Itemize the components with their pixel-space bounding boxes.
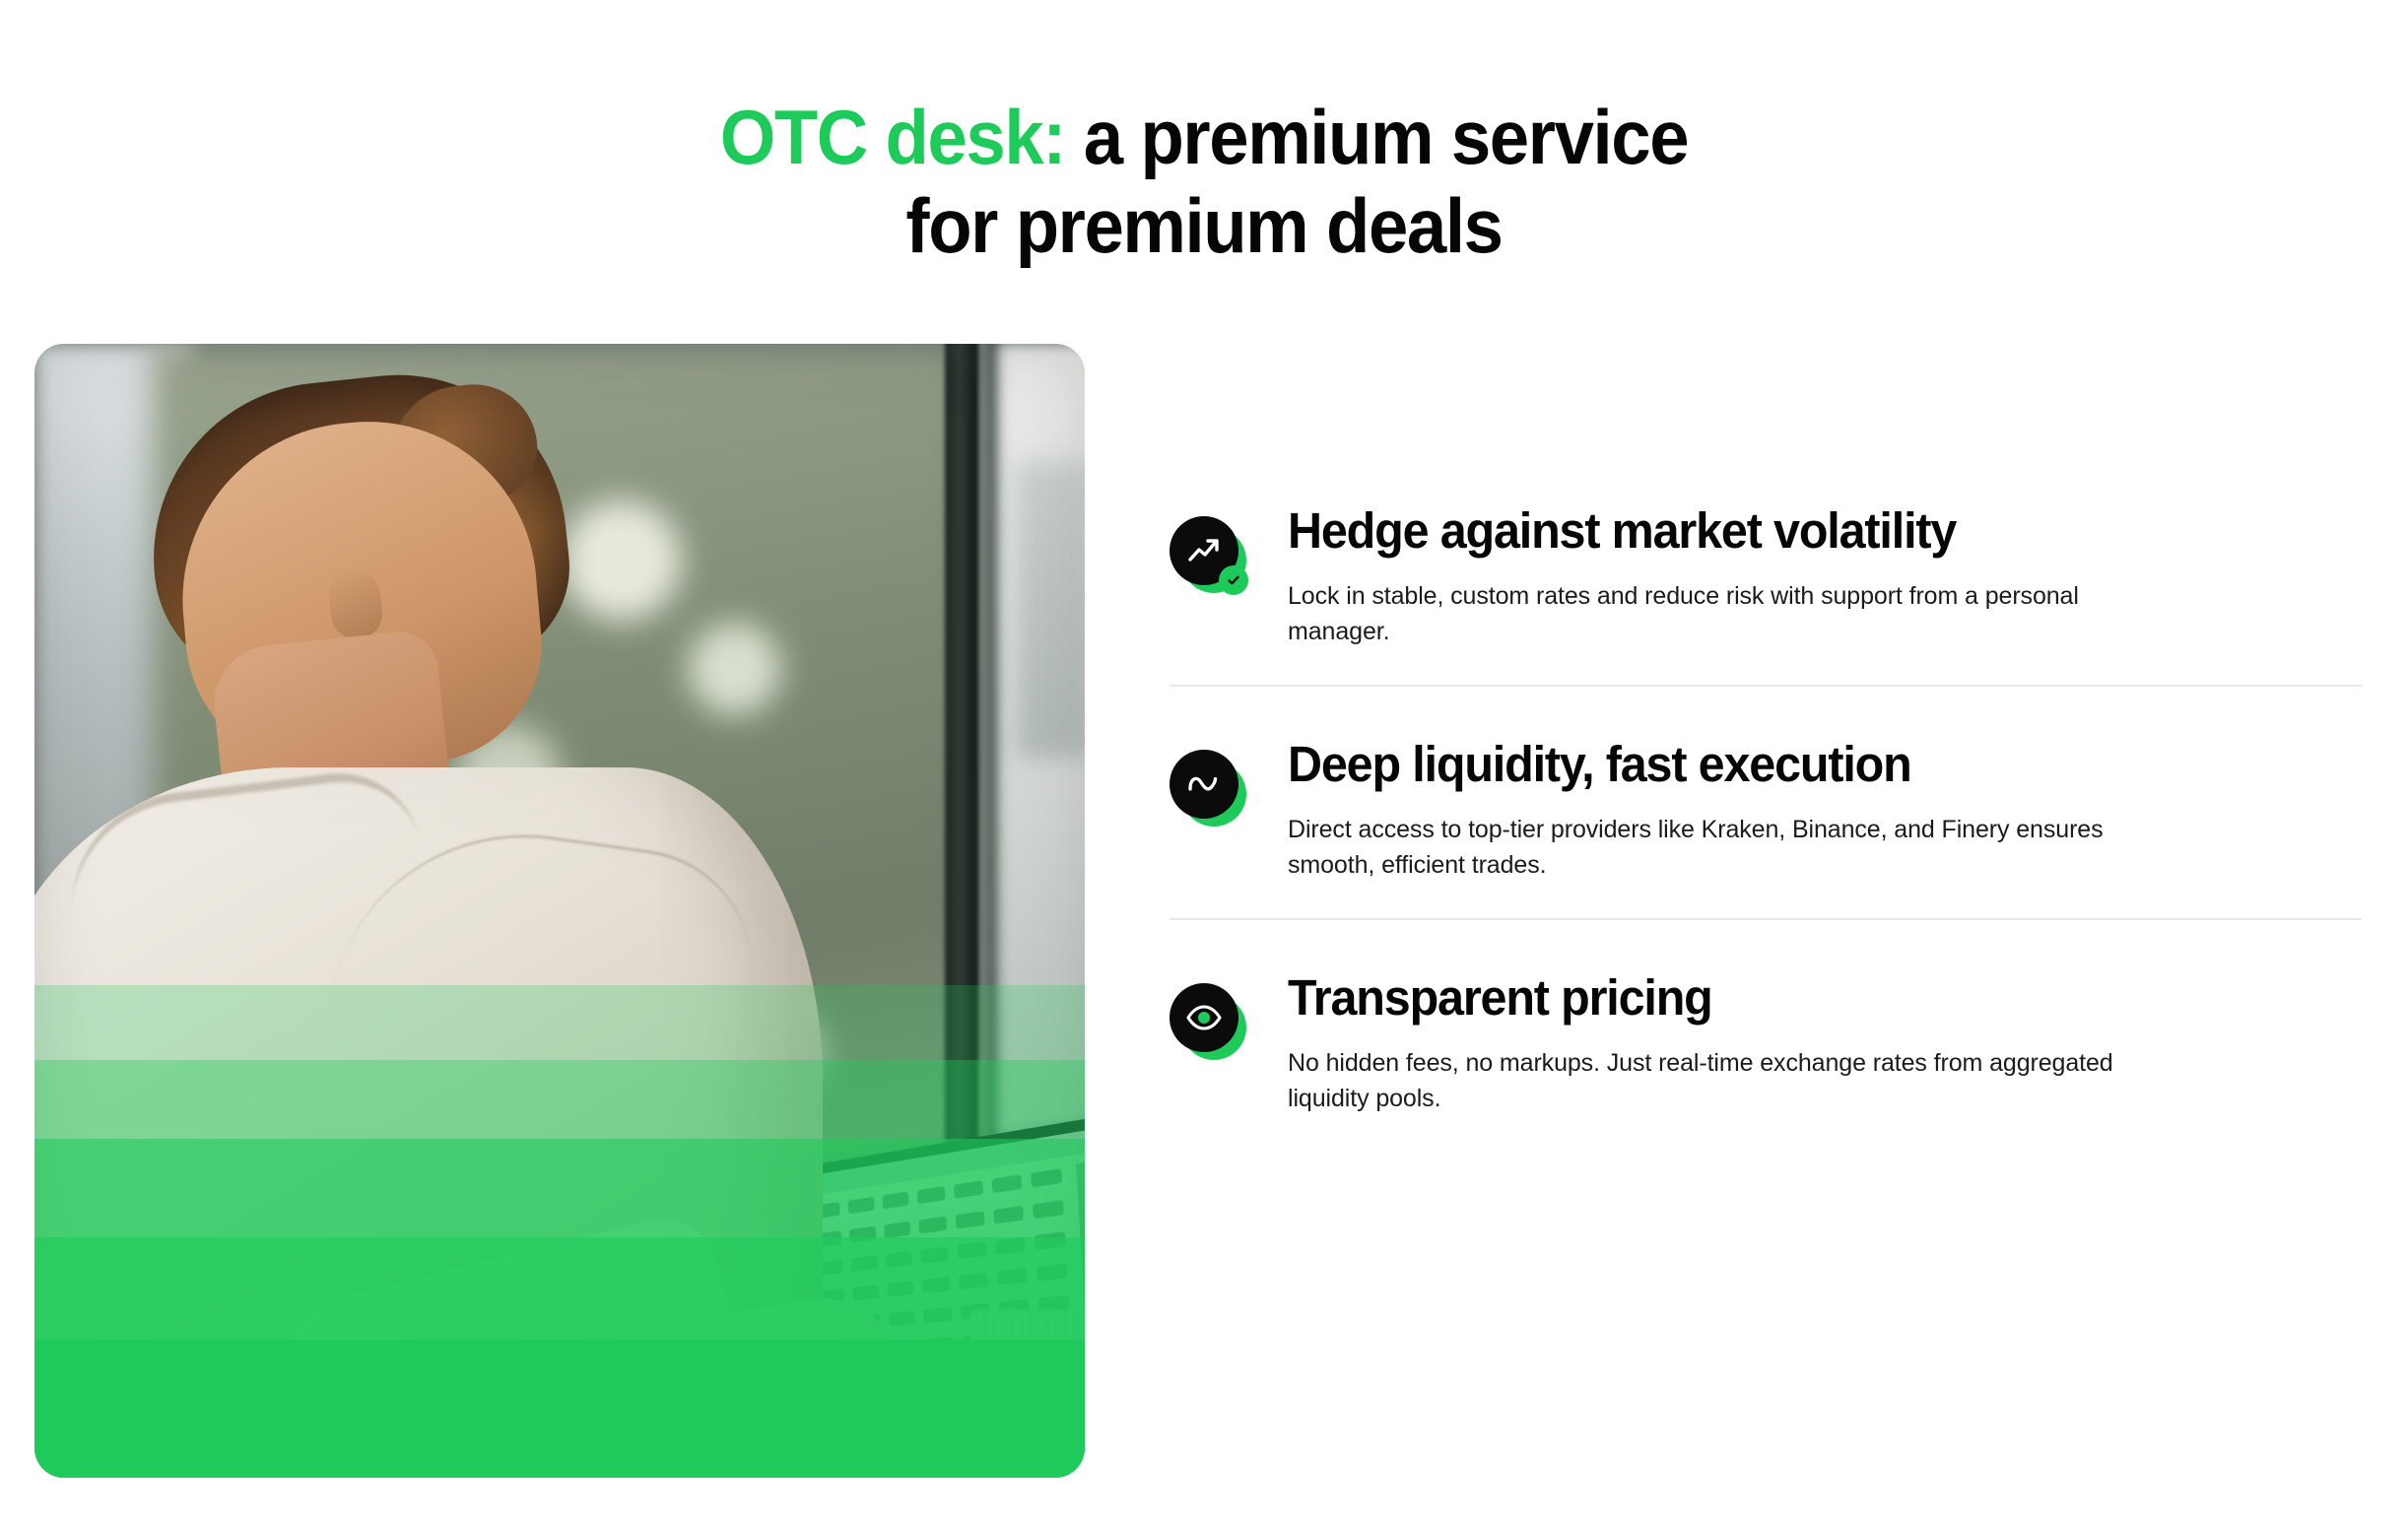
wave-liquidity-icon bbox=[1170, 750, 1246, 827]
feature-text: Deep liquidity, fast execution Direct ac… bbox=[1288, 736, 2362, 883]
page-title-line-2: for premium deals bbox=[85, 187, 2324, 264]
feature-list: Hedge against market volatility Lock in … bbox=[1170, 502, 2362, 1152]
page-title: OTC desk: a premium service for premium … bbox=[85, 99, 2324, 264]
feature-item-hedge: Hedge against market volatility Lock in … bbox=[1170, 502, 2362, 685]
check-badge-icon bbox=[1219, 565, 1248, 595]
trending-up-check-icon bbox=[1170, 516, 1246, 593]
feature-description: No hidden fees, no markups. Just real-ti… bbox=[1288, 1046, 2155, 1116]
hero-photo bbox=[34, 344, 1085, 1478]
feature-item-pricing: Transparent pricing No hidden fees, no m… bbox=[1170, 918, 2362, 1152]
overlay-band-1 bbox=[34, 985, 1085, 1060]
green-gradient-overlay bbox=[34, 985, 1085, 1478]
overlay-band-2 bbox=[34, 1060, 1085, 1139]
feature-title: Deep liquidity, fast execution bbox=[1288, 738, 2308, 791]
feature-text: Transparent pricing No hidden fees, no m… bbox=[1288, 969, 2362, 1116]
page-title-accent: OTC desk: bbox=[720, 94, 1065, 180]
feature-description: Direct access to top-tier providers like… bbox=[1288, 813, 2155, 883]
overlay-band-5 bbox=[34, 1340, 1085, 1478]
overlay-band-4 bbox=[34, 1237, 1085, 1340]
page-title-line-1: OTC desk: a premium service bbox=[85, 99, 2324, 175]
page-title-rest: a premium service bbox=[1065, 94, 1688, 180]
eye-transparency-icon bbox=[1170, 983, 1246, 1060]
feature-description: Lock in stable, custom rates and reduce … bbox=[1288, 579, 2155, 649]
feature-item-liquidity: Deep liquidity, fast execution Direct ac… bbox=[1170, 685, 2362, 918]
icon-black-disc bbox=[1170, 750, 1238, 819]
icon-black-disc bbox=[1170, 983, 1238, 1052]
feature-title: Transparent pricing bbox=[1288, 971, 2308, 1025]
overlay-band-3 bbox=[34, 1139, 1085, 1237]
feature-title: Hedge against market volatility bbox=[1288, 504, 2308, 558]
feature-text: Hedge against market volatility Lock in … bbox=[1288, 502, 2362, 649]
